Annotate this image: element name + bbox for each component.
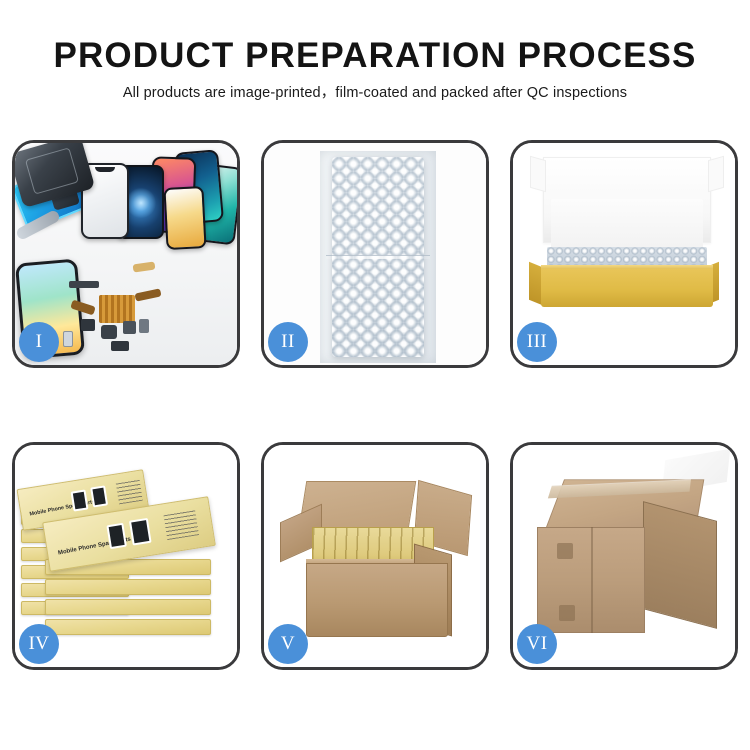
page-title: PRODUCT PREPARATION PROCESS	[0, 34, 750, 78]
process-step-panel-2: II	[261, 140, 489, 368]
step-badge-6: VI	[517, 624, 557, 664]
process-step-panel-4: Mobile Phone Spare Parts Mobile Phone Sp…	[12, 442, 240, 670]
header: PRODUCT PREPARATION PROCESS All products…	[0, 0, 750, 132]
process-step-panel-3: III	[510, 140, 738, 368]
process-step-panel-6: VI	[510, 442, 738, 670]
step-badge-3: III	[517, 322, 557, 362]
process-step-panel-1: I	[12, 140, 240, 368]
step-badge-4: IV	[19, 624, 59, 664]
step-badge-5: V	[268, 624, 308, 664]
step-badge-1: I	[19, 322, 59, 362]
process-step-panel-5: V	[261, 442, 489, 670]
product-preparation-infographic: PRODUCT PREPARATION PROCESS All products…	[0, 0, 750, 750]
step-badge-2: II	[268, 322, 308, 362]
page-subtitle: All products are image-printed，film-coat…	[0, 83, 750, 103]
process-step-grid: I II III	[12, 140, 738, 670]
